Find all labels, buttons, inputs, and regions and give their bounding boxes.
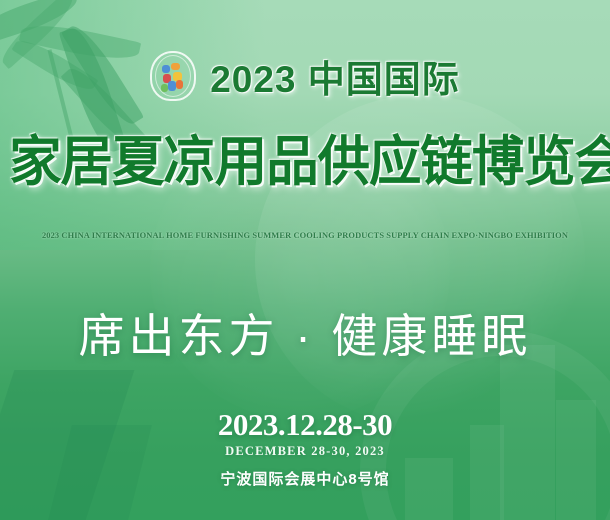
exhibition-poster: 2023 中国国际 家居夏凉用品供应链博览会·宁波展 2023 CHINA IN… xyxy=(0,0,610,520)
bamboo-leaf-icon xyxy=(0,0,81,47)
left-light-band xyxy=(0,0,265,250)
poster-header: 2023 中国国际 xyxy=(0,45,610,107)
globe-emblem-icon xyxy=(150,51,196,101)
slogan-text: 席出东方 · 健康睡眠 xyxy=(0,300,610,366)
english-subtitle: 2023 CHINA INTERNATIONAL HOME FURNISHING… xyxy=(3,230,607,240)
header-title: 2023 中国国际 xyxy=(210,49,460,103)
event-date: 2023.12.28-30 xyxy=(0,407,610,443)
main-title: 家居夏凉用品供应链博览会·宁波展 xyxy=(9,135,601,189)
event-date-english: DECEMBER 28-30, 2023 xyxy=(0,444,610,459)
event-venue: 宁波国际会展中心8号馆 xyxy=(0,468,610,489)
